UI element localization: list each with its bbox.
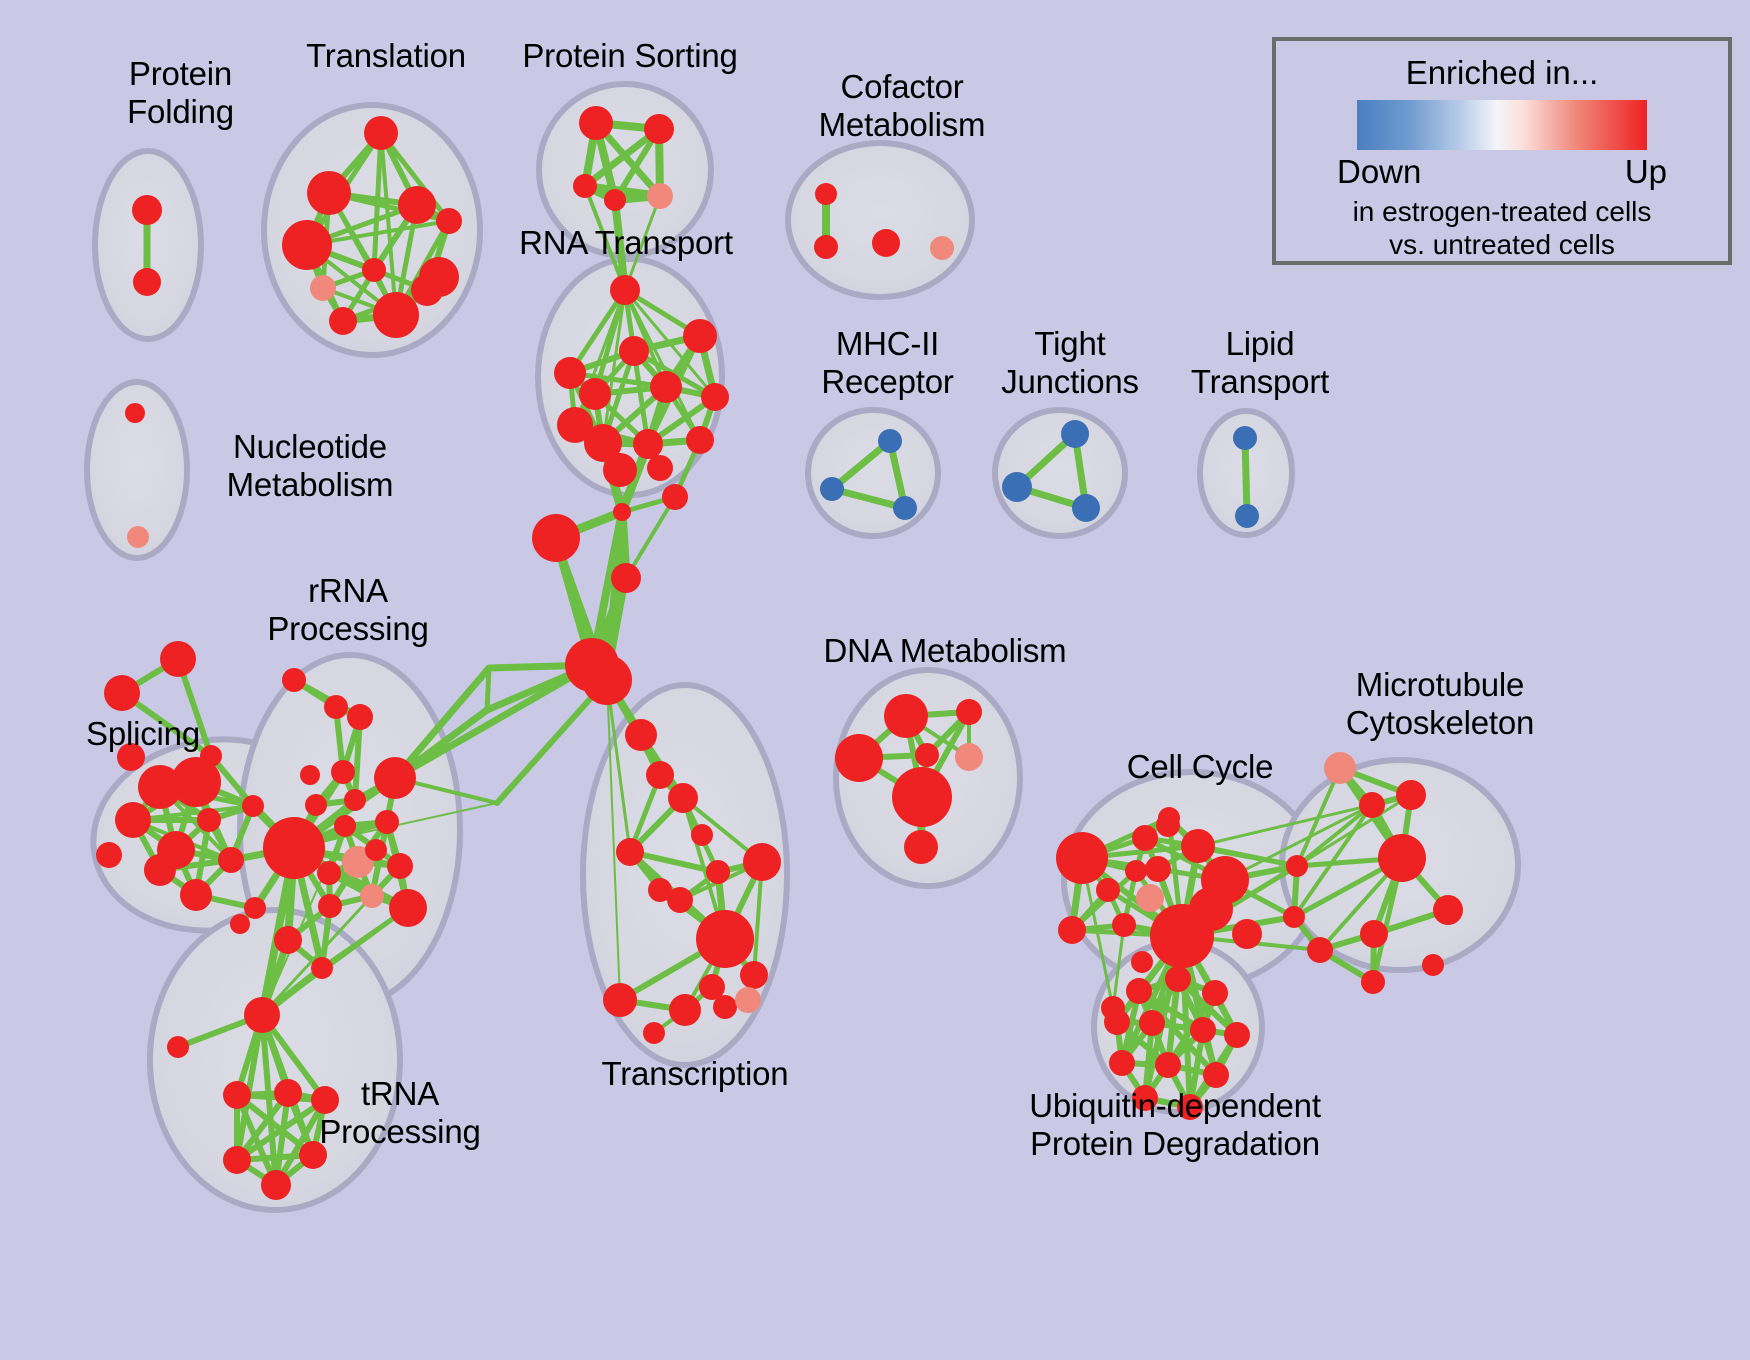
legend-endpoints: Down Up	[1337, 153, 1667, 191]
halo-protein-sorting	[539, 84, 711, 256]
legend-title: Enriched in...	[1406, 54, 1599, 92]
legend-panel: Enriched in... Down Up in estrogen-treat…	[1272, 37, 1732, 265]
halo-mhc-ii	[808, 410, 938, 536]
legend-caption: in estrogen-treated cells vs. untreated …	[1353, 196, 1652, 261]
legend-low-label: Down	[1337, 153, 1421, 191]
legend-high-label: Up	[1625, 153, 1667, 191]
enrichment-map-figure: Protein Folding Translation Protein Sort…	[0, 0, 1750, 1360]
legend-color-gradient-bar	[1357, 100, 1647, 150]
halo-cofactor-metabolism	[788, 143, 972, 297]
